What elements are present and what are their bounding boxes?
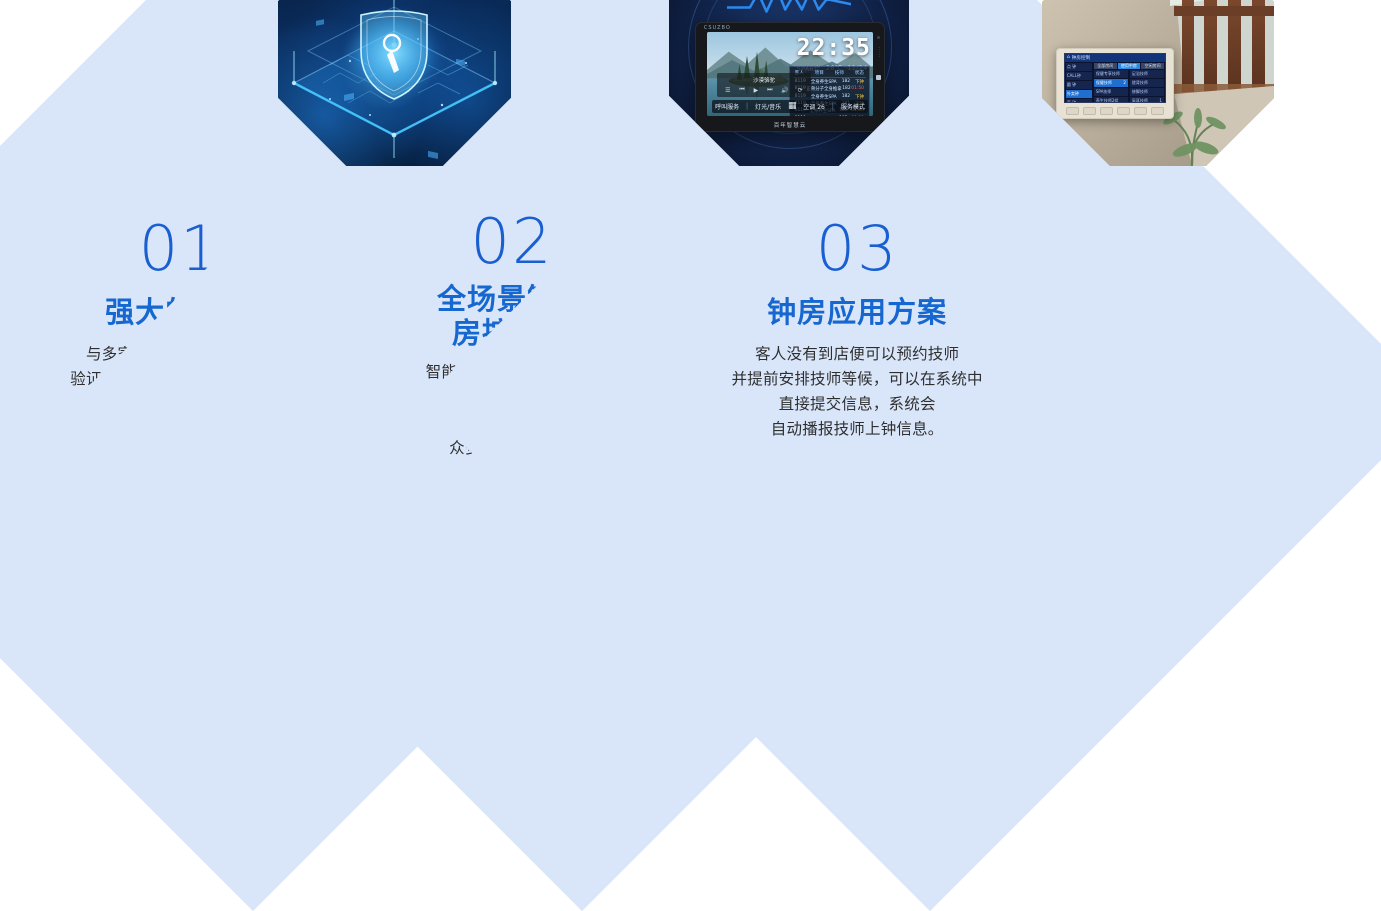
panel-header-text: 钟房控制 bbox=[1072, 55, 1090, 61]
play-icon[interactable]: ▶ bbox=[754, 87, 759, 94]
col-header: 项目 bbox=[815, 70, 824, 76]
list-item[interactable]: 采耳技师1 bbox=[1130, 97, 1164, 103]
table-row: 8119 全身养生SPA 182 02:20 bbox=[793, 115, 866, 116]
list-item[interactable]: SPA技师 bbox=[1094, 88, 1128, 96]
panel-number-02: 02 bbox=[471, 211, 554, 273]
cell: 下钟 bbox=[855, 94, 864, 100]
music-player-widget[interactable]: 沙漠骆驼 ☰ ⏮ ▶ ⏭ 🔊 ⟳ bbox=[717, 73, 812, 97]
panel-column-2[interactable]: 足浴技师 搓背技师 修脚技师 采耳技师1 暂无技师排钟信息 bbox=[1130, 70, 1164, 103]
tab-active[interactable]: 使用中房 bbox=[1118, 63, 1141, 69]
divider: | bbox=[832, 102, 834, 110]
list-icon[interactable]: ☰ bbox=[725, 87, 730, 94]
cell: 全身养生SPA bbox=[811, 79, 837, 85]
tablet-brand: CSUZBO bbox=[704, 25, 731, 31]
tablet-taskbar[interactable]: 呼叫服务 | 灯光/音乐 ▦ 空调 26 | 服务模式 bbox=[712, 100, 869, 113]
hw-button[interactable] bbox=[1151, 107, 1164, 115]
panel-screen[interactable]: ⌂ 钟房控制 点 钟 CALL钟 圆 钟 外卖钟 直 钟 bbox=[1064, 53, 1166, 103]
hw-button[interactable] bbox=[1083, 107, 1096, 115]
volume-icon[interactable]: 🔊 bbox=[781, 87, 788, 94]
panel-tabs[interactable]: 全部房间 使用中房 空闲房间 bbox=[1094, 63, 1164, 69]
hw-button[interactable] bbox=[1100, 107, 1113, 115]
menu-item[interactable]: 圆 钟 bbox=[1066, 81, 1092, 89]
panel-left-menu[interactable]: 点 钟 CALL钟 圆 钟 外卖钟 直 钟 bbox=[1065, 62, 1093, 102]
cell: 正骨分子全身推拿 bbox=[806, 86, 841, 92]
col-header: 状态 bbox=[855, 70, 864, 76]
prev-icon[interactable]: ⏮ bbox=[739, 86, 744, 94]
home-icon: ⌂ bbox=[1067, 55, 1070, 60]
tablet-side-label: ····· bbox=[876, 47, 881, 58]
list-item[interactable]: 足浴技师 bbox=[1130, 70, 1164, 78]
desc-line: 并提前安排技师等候，可以在系统中 bbox=[732, 367, 983, 392]
player-controls[interactable]: ☰ ⏮ ▶ ⏭ 🔊 ⟳ bbox=[721, 86, 808, 94]
menu-item[interactable]: CALL钟 bbox=[1066, 72, 1092, 80]
tab[interactable]: 全部房间 bbox=[1094, 63, 1117, 69]
hw-button[interactable] bbox=[1066, 107, 1079, 115]
panel-header: ⌂ 钟房控制 bbox=[1065, 54, 1165, 62]
menu-item[interactable]: 直 钟 bbox=[1066, 99, 1092, 103]
mode-icon[interactable]: ⟳ bbox=[798, 87, 803, 94]
cell: 下钟 bbox=[855, 79, 864, 85]
tab[interactable]: 空闲房间 bbox=[1141, 63, 1164, 69]
track-title: 沙漠骆驼 bbox=[721, 76, 808, 84]
hw-button[interactable] bbox=[1134, 107, 1147, 115]
hw-button[interactable] bbox=[1117, 107, 1130, 115]
panel-title-03: 钟房应用方案 bbox=[767, 296, 947, 330]
desc-line: 客人没有到店便可以预约技师 bbox=[732, 341, 983, 366]
cell: 01:50 bbox=[851, 86, 864, 92]
taskbar-item[interactable]: 服务模式 bbox=[841, 102, 865, 111]
panel-description-03: 客人没有到店便可以预约技师 并提前安排技师等候，可以在系统中 直接提交信息，系统… bbox=[732, 341, 983, 441]
tablet-logo-text: 百年智慧云 bbox=[696, 121, 883, 129]
menu-item[interactable]: 点 钟 bbox=[1066, 63, 1092, 71]
taskbar-item[interactable]: 灯光/音乐 bbox=[755, 102, 781, 111]
taskbar-item[interactable]: 空调 26 bbox=[803, 102, 825, 111]
pulse-wave-icon bbox=[727, 0, 852, 20]
infographic-stage: 01 强大的接口 与多家团购网络合作，团购 验证和结算同步，解决了先验证 后结算… bbox=[0, 0, 1381, 603]
list-item[interactable]: 搓背技师 bbox=[1130, 79, 1164, 87]
panel-hardware-buttons[interactable] bbox=[1066, 106, 1163, 116]
apps-grid-icon[interactable]: ▦ bbox=[788, 101, 797, 111]
cell: 182 bbox=[842, 86, 850, 92]
list-item-selected[interactable]: 保健技师2 bbox=[1094, 79, 1128, 87]
taskbar-item[interactable]: 呼叫服务 bbox=[715, 102, 739, 111]
panel-right-area[interactable]: 全部房间 使用中房 空闲房间 保健专享技师 保健技师2 SPA技师 养生技师2组 bbox=[1093, 62, 1165, 102]
panel-column-1[interactable]: 保健专享技师 保健技师2 SPA技师 养生技师2组 养生技师3组 bbox=[1094, 70, 1128, 103]
menu-item-selected[interactable]: 外卖钟 bbox=[1066, 90, 1092, 98]
cell: 182 bbox=[842, 94, 850, 100]
next-icon[interactable]: ⏭ bbox=[767, 86, 772, 94]
clock-time: 22:35 bbox=[797, 37, 870, 60]
list-item[interactable]: 保健专享技师 bbox=[1094, 70, 1128, 78]
col-header: 技师 bbox=[835, 70, 844, 76]
divider: | bbox=[746, 102, 748, 110]
smart-room-tablet: CSUZBO ····· bbox=[695, 22, 884, 132]
tablet-home-button[interactable] bbox=[876, 75, 881, 80]
desc-line: 直接提交信息，系统会 bbox=[732, 392, 983, 417]
panel-number-03: 03 bbox=[816, 218, 899, 280]
list-item[interactable]: 修脚技师 bbox=[1130, 88, 1164, 96]
cell: 全身养生SPA bbox=[811, 94, 837, 100]
panel-title-line: 钟房应用方案 bbox=[767, 296, 947, 330]
desc-line: 自动播报技师上钟信息。 bbox=[732, 417, 983, 442]
tablet-camera-dot bbox=[877, 36, 880, 39]
tablet-screen[interactable]: 22:35 SPA6房 26℃ 11/24 客人 项目 技师 bbox=[707, 32, 874, 116]
list-item[interactable]: 养生技师2组 bbox=[1094, 97, 1128, 103]
cell: 182 bbox=[842, 79, 850, 85]
wall-control-panel: ⌂ 钟房控制 点 钟 CALL钟 圆 钟 外卖钟 直 钟 bbox=[1056, 48, 1174, 120]
